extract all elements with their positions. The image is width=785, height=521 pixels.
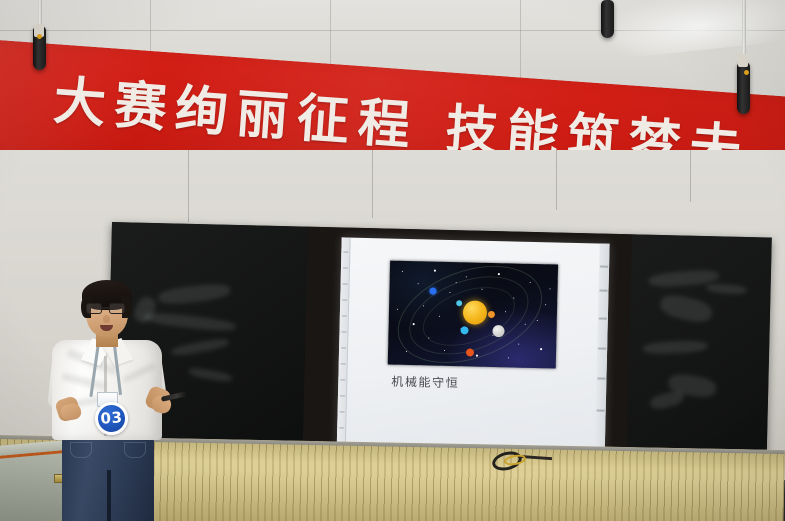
document-ruler — [337, 237, 351, 443]
indicator-light-left — [37, 34, 42, 39]
presenter-nose — [103, 315, 110, 323]
classroom-photo: 大赛绚丽征程 技能筑梦未 ——茅台学院第三届青年教师教学技能大 — [0, 0, 785, 521]
ceiling-glare — [597, 0, 785, 60]
pocket-right — [124, 442, 146, 458]
blackboard: 机械能守恒 — [107, 222, 772, 469]
glasses-bridge — [102, 307, 109, 309]
eyeglasses-icon — [86, 303, 127, 314]
slide-caption: 机械能守恒 — [391, 373, 459, 392]
projection-screen: 机械能守恒 — [302, 227, 631, 467]
presenter-leg-seam — [107, 470, 111, 521]
lens-left — [86, 303, 102, 314]
pocket-left — [70, 442, 92, 458]
ceiling-rod-right — [742, 0, 746, 58]
indicator-light-right — [744, 70, 749, 75]
hanging-speaker-center — [601, 0, 614, 38]
speaker-clamp-right — [738, 54, 748, 67]
solar-system-image — [388, 261, 558, 369]
lens-right — [109, 303, 125, 314]
blackboard-panel-right — [626, 234, 771, 469]
document-right-edge — [595, 243, 610, 449]
projected-document: 机械能守恒 — [337, 237, 610, 449]
contestant-number: 03 — [100, 410, 123, 426]
